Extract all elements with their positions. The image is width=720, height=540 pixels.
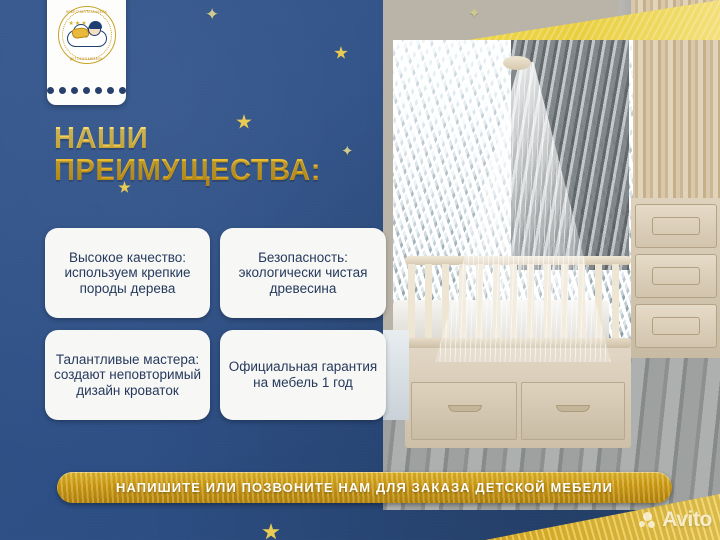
crib-drawer bbox=[521, 382, 625, 440]
photo-canopy-crown bbox=[503, 56, 531, 70]
logo-dot-row bbox=[47, 87, 126, 94]
decor-sparkle-icon: ✦ bbox=[468, 6, 481, 21]
call-to-action-text: НАПИШИТЕ ИЛИ ПОЗВОНИТЕ НАМ ДЛЯ ЗАКАЗА ДЕ… bbox=[116, 480, 613, 495]
promo-banner-image: НЕБЕСНАЯ КОЛЫБЕЛЬ ★★★ ДЕТСКАЯ МЕБЕЛЬ НАШ… bbox=[0, 0, 720, 540]
logo-dot bbox=[107, 87, 114, 94]
logo-dot bbox=[83, 87, 90, 94]
logo-dot bbox=[95, 87, 102, 94]
feature-card-warranty: Официальная гарантия на мебель 1 год bbox=[220, 330, 386, 420]
logo-dot bbox=[59, 87, 66, 94]
avito-wordmark: Avito bbox=[662, 508, 712, 532]
dresser-drawer bbox=[635, 254, 717, 298]
headline-line-1: НАШИ bbox=[54, 120, 148, 155]
feature-card-quality: Высокое качество: используем крепкие пор… bbox=[45, 228, 210, 318]
seal-top-text: НЕБЕСНАЯ КОЛЫБЕЛЬ bbox=[58, 10, 116, 14]
brand-logo-card: НЕБЕСНАЯ КОЛЫБЕЛЬ ★★★ ДЕТСКАЯ МЕБЕЛЬ bbox=[47, 0, 126, 105]
crib-drawer bbox=[411, 382, 517, 440]
headline-line-2: ПРЕИМУЩЕСТВА: bbox=[54, 154, 364, 186]
crib-drawer-handle bbox=[556, 405, 590, 412]
seal-bottom-text: ДЕТСКАЯ МЕБЕЛЬ bbox=[58, 57, 116, 61]
logo-dot bbox=[119, 87, 126, 94]
logo-dot bbox=[47, 87, 54, 94]
avito-logo-icon bbox=[639, 512, 657, 528]
product-photo bbox=[383, 0, 720, 510]
decor-sparkle-icon: ✦ bbox=[205, 6, 219, 23]
avito-watermark: Avito bbox=[639, 508, 712, 532]
decor-sparkle-icon: ✦ bbox=[341, 144, 354, 159]
feature-card-row: Талантливые мастера: создают неповторимы… bbox=[45, 330, 386, 420]
baby-hair-icon bbox=[89, 21, 102, 29]
logo-dot bbox=[71, 87, 78, 94]
headline: НАШИ ПРЕИМУЩЕСТВА: bbox=[54, 122, 364, 186]
dresser-drawer bbox=[635, 304, 717, 348]
feature-card-grid: Высокое качество: используем крепкие пор… bbox=[45, 228, 386, 432]
crib-drawer-handle bbox=[448, 405, 482, 412]
feature-card-row: Высокое качество: используем крепкие пор… bbox=[45, 228, 386, 318]
call-to-action-banner[interactable]: НАПИШИТЕ ИЛИ ПОЗВОНИТЕ НАМ ДЛЯ ЗАКАЗА ДЕ… bbox=[57, 472, 672, 503]
photo-dresser bbox=[631, 198, 720, 358]
photo-left-object bbox=[383, 330, 409, 420]
dresser-drawer bbox=[635, 204, 717, 248]
feature-card-masters: Талантливые мастера: создают неповторимы… bbox=[45, 330, 210, 420]
brand-seal-icon: НЕБЕСНАЯ КОЛЫБЕЛЬ ★★★ ДЕТСКАЯ МЕБЕЛЬ bbox=[58, 6, 116, 64]
feature-card-safety: Безопасность: экологически чистая древес… bbox=[220, 228, 386, 318]
